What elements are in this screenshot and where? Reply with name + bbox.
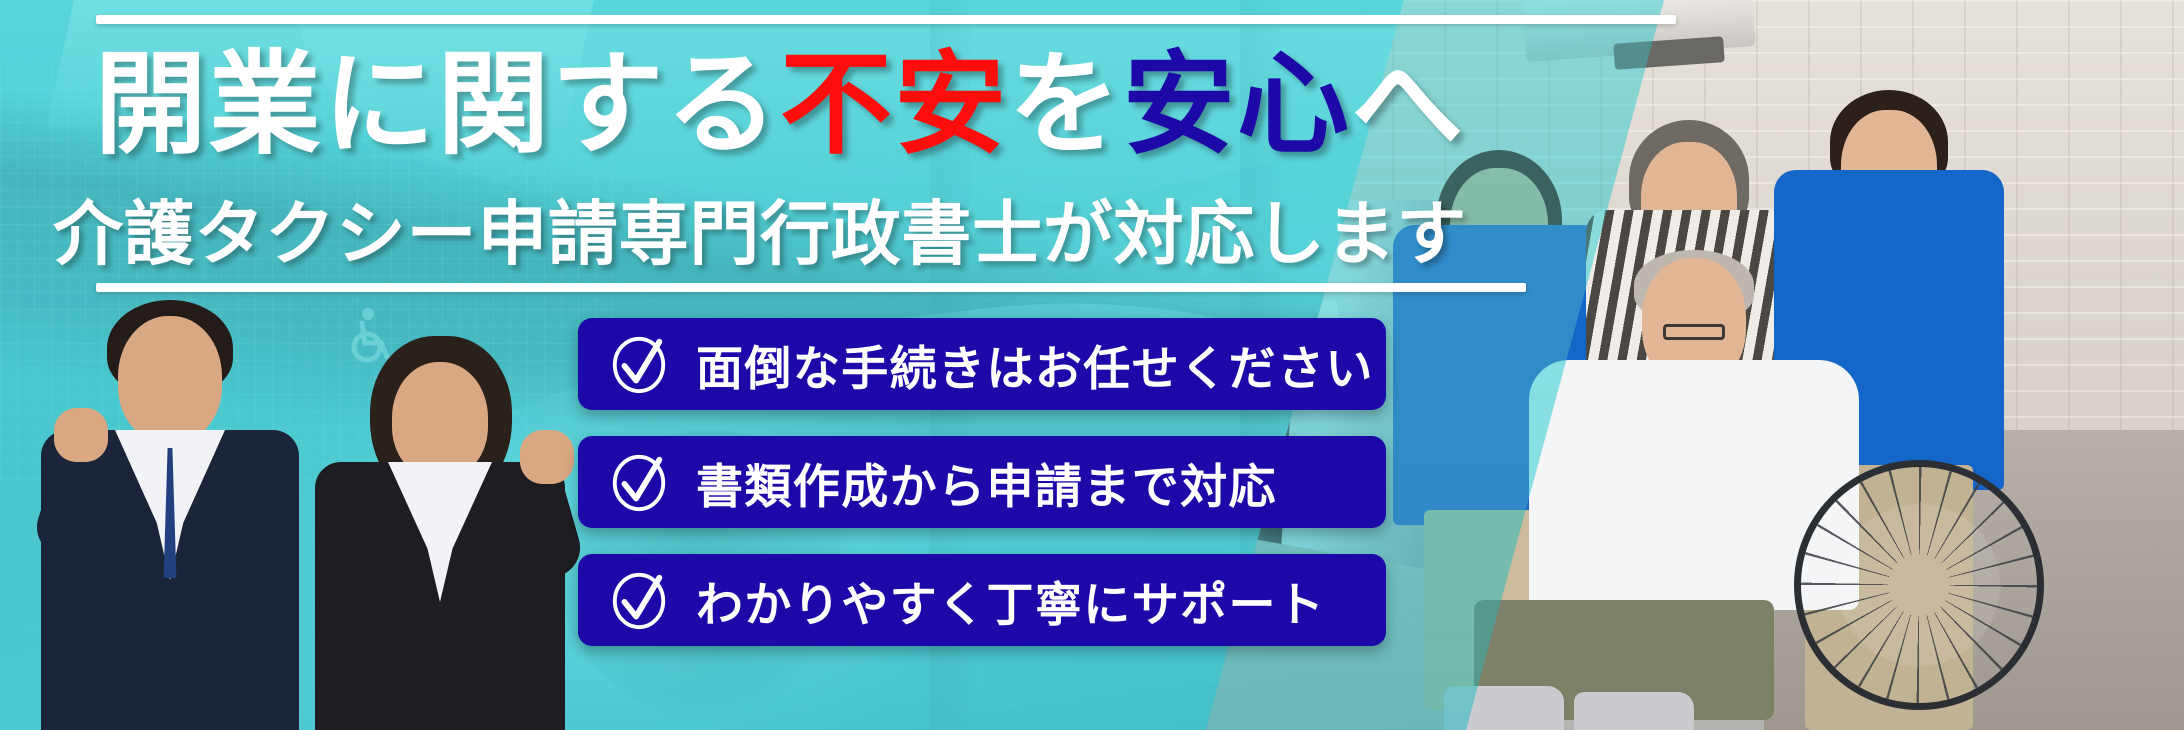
page-title: 開業に関する不安を安心へ	[0, 48, 1560, 162]
hero-banner: 開業に関する不安を安心へ 介護タクシー申請専門行政書士が対応します 面倒な手続き…	[0, 0, 2184, 730]
headline-part-1: 開業に関する	[95, 42, 780, 167]
bottom-divider-line	[96, 283, 1526, 292]
feature-badge[interactable]: 書類作成から申請まで対応	[578, 436, 1386, 528]
feature-badge-list: 面倒な手続きはお任せください 書類作成から申請まで対応 わかりやすく丁寧にサポー…	[578, 318, 1386, 646]
circled-check-icon	[608, 333, 670, 395]
headline-emphasis-blue: 安心	[1123, 42, 1351, 167]
headline-part-3: を	[1008, 42, 1122, 167]
feature-badge-label: 書類作成から申請まで対応	[696, 448, 1277, 517]
top-divider-line	[96, 15, 1676, 24]
banner-content: 開業に関する不安を安心へ 介護タクシー申請専門行政書士が対応します 面倒な手続き…	[0, 0, 2184, 730]
feature-badge[interactable]: わかりやすく丁寧にサポート	[578, 554, 1386, 646]
feature-badge[interactable]: 面倒な手続きはお任せください	[578, 318, 1386, 410]
headline-emphasis-red: 不安	[780, 42, 1008, 167]
feature-badge-label: 面倒な手続きはお任せください	[696, 330, 1374, 399]
page-subtitle: 介護タクシー申請専門行政書士が対応します	[0, 196, 1520, 273]
headline-part-5: へ	[1351, 42, 1465, 167]
circled-check-icon	[608, 569, 670, 631]
feature-badge-label: わかりやすく丁寧にサポート	[696, 566, 1325, 635]
circled-check-icon	[608, 451, 670, 513]
